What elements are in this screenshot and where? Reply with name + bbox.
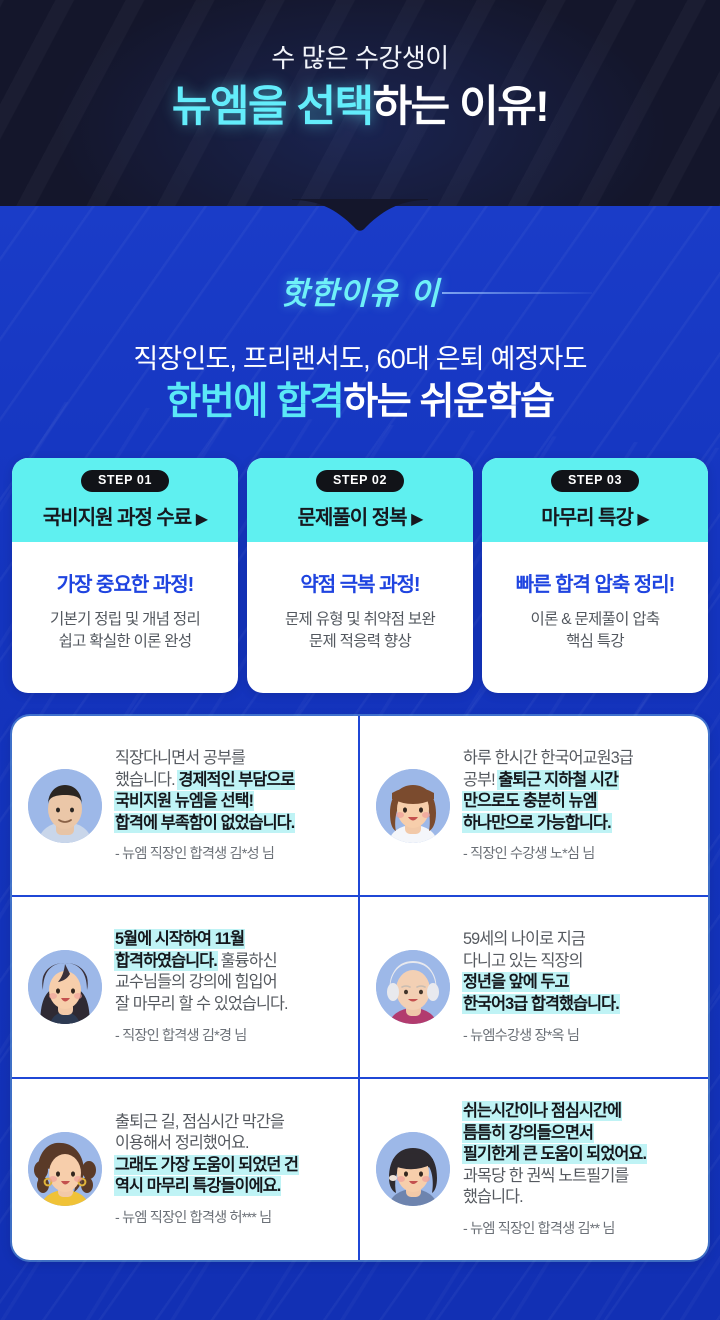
testimonial-text: 쉬는시간이나 점심시간에틈틈히 강의들으면서필기한게 큰 도움이 되었어요.과목… [463, 1101, 694, 1238]
testimonial-author: - 뉴엠 직장인 합격생 허*** 님 [115, 1207, 344, 1227]
script-label: 핫한이유 이 [280, 268, 439, 313]
testimonial-line: 국비지원 뉴엠을 선택! [115, 791, 344, 813]
step-card-list: STEP 01 국비지원 과정 수료 ▶ 가장 중요한 과정! 기본기 정립 및… [12, 458, 708, 693]
step-badge: STEP 01 [81, 470, 169, 492]
testimonial-text: 출퇴근 길, 점심시간 막간을이용해서 정리했어요.그래도 가장 도움이 되었던… [115, 1112, 344, 1227]
headline-subtitle: 직장인도, 프리랜서도, 60대 은퇴 예정자도 [0, 344, 720, 375]
step-badge: STEP 03 [551, 470, 639, 492]
testimonial-card: 쉬는시간이나 점심시간에틈틈히 강의들으면서필기한게 큰 도움이 되었어요.과목… [360, 1079, 708, 1260]
step-card-1-header: STEP 01 국비지원 과정 수료 ▶ [12, 458, 238, 542]
testimonial-line: 잘 마무리 할 수 있었습니다. [115, 994, 344, 1016]
play-arrow-icon: ▶ [637, 511, 648, 528]
hero-title: 뉴엠을 선택하는 이유! [0, 83, 720, 132]
testimonial-line: 했습니다. 경제적인 부담으로 [115, 770, 344, 792]
testimonial-author: - 뉴엠 직장인 합격생 김** 님 [463, 1218, 694, 1238]
step-card-2[interactable]: STEP 02 문제풀이 정복 ▶ 약점 극복 과정! 문제 유형 및 취약점 … [247, 458, 473, 693]
headline-white: 하는 쉬운학습 [343, 381, 554, 423]
testimonial-line: 하루 한시간 한국어교원3급 [463, 748, 694, 770]
step-card-3[interactable]: STEP 03 마무리 특강 ▶ 빠른 합격 압축 정리! 이론 & 문제풀이 … [482, 458, 708, 693]
step-card-2-body: 약점 극복 과정! 문제 유형 및 취약점 보완 문제 적응력 향상 [247, 542, 473, 694]
testimonial-card: 59세의 나이로 지금다니고 있는 직장의정년을 앞에 두고한국어3급 합격했습… [360, 897, 708, 1078]
testimonial-line: 그래도 가장 도움이 되었던 건 [115, 1155, 344, 1177]
testimonial-author: - 뉴엠 직장인 합격생 김*성 님 [115, 843, 344, 863]
step-card-2-header: STEP 02 문제풀이 정복 ▶ [247, 458, 473, 542]
play-arrow-icon: ▶ [411, 511, 422, 528]
step-title: 문제풀이 정복 ▶ [253, 501, 467, 530]
testimonial-line: 한국어3급 합격했습니다. [463, 994, 694, 1016]
testimonial-line: 직장다니면서 공부를 [115, 748, 344, 770]
headline-block: 직장인도, 프리랜서도, 60대 은퇴 예정자도 한번에 합격하는 쉬운학습 [0, 344, 720, 425]
headline-main: 한번에 합격하는 쉬운학습 [0, 381, 720, 425]
step-desc-line: 이론 & 문제풀이 압축 [490, 609, 700, 631]
testimonial-author: - 직장인 수강생 노*심 님 [463, 843, 694, 863]
step-description: 기본기 정립 및 개념 정리 쉽고 확실한 이론 완성 [20, 609, 230, 654]
step-title-text: 문제풀이 정복 [298, 507, 407, 529]
hero-title-cyan: 뉴엠을 선택 [172, 83, 373, 131]
testimonial-text: 직장다니면서 공부를했습니다. 경제적인 부담으로국비지원 뉴엠을 선택!합격에… [115, 748, 344, 863]
testimonial-line: 이용해서 정리했어요. [115, 1133, 344, 1155]
step-card-1-body: 가장 중요한 과정! 기본기 정립 및 개념 정리 쉽고 확실한 이론 완성 [12, 542, 238, 694]
step-description: 이론 & 문제풀이 압축 핵심 특강 [490, 609, 700, 654]
hero-banner: 수 많은 수강생이 뉴엠을 선택하는 이유! [0, 0, 720, 206]
testimonial-line: 과목당 한 권씩 노트필기를 [463, 1166, 694, 1188]
avatar [376, 950, 450, 1024]
step-title-text: 국비지원 과정 수료 [43, 507, 191, 529]
step-title: 마무리 특강 ▶ [488, 501, 702, 530]
testimonial-line: 필기한게 큰 도움이 되었어요. [463, 1144, 694, 1166]
hero-subtitle: 수 많은 수강생이 [0, 44, 720, 73]
testimonial-line: 다니고 있는 직장의 [463, 951, 694, 973]
testimonial-card: 출퇴근 길, 점심시간 막간을이용해서 정리했어요.그래도 가장 도움이 되었던… [12, 1079, 360, 1260]
testimonial-card: 5월에 시작하여 11월합격하였습니다. 훌륭하신교수님들의 강의에 힘입어잘 … [12, 897, 360, 1078]
testimonial-line: 합격하였습니다. 훌륭하신 [115, 951, 344, 973]
testimonial-text: 하루 한시간 한국어교원3급공부! 출퇴근 지하철 시간만으로도 충분히 뉴엠하… [463, 748, 694, 863]
step-desc-line: 핵심 특강 [490, 631, 700, 653]
hero-title-white: 하는 이유! [373, 83, 549, 131]
testimonial-line: 합격에 부족함이 없었습니다. [115, 813, 344, 835]
headline-cyan: 한번에 합격 [166, 381, 343, 423]
script-label-row: 핫한이유 이 [0, 266, 720, 326]
step-title-text: 마무리 특강 [541, 507, 633, 529]
step-title: 국비지원 과정 수료 ▶ [18, 501, 232, 530]
step-card-3-header: STEP 03 마무리 특강 ▶ [482, 458, 708, 542]
step-desc-line: 문제 적응력 향상 [255, 631, 465, 653]
step-card-1[interactable]: STEP 01 국비지원 과정 수료 ▶ 가장 중요한 과정! 기본기 정립 및… [12, 458, 238, 693]
testimonial-author: - 뉴엠수강생 장*옥 님 [463, 1025, 694, 1045]
testimonial-card: 하루 한시간 한국어교원3급공부! 출퇴근 지하철 시간만으로도 충분히 뉴엠하… [360, 716, 708, 897]
step-badge: STEP 02 [316, 470, 404, 492]
step-desc-line: 쉽고 확실한 이론 완성 [20, 631, 230, 653]
testimonial-line: 출퇴근 길, 점심시간 막간을 [115, 1112, 344, 1134]
step-desc-line: 기본기 정립 및 개념 정리 [20, 609, 230, 631]
testimonial-line: 교수님들의 강의에 힘입어 [115, 972, 344, 994]
avatar [376, 1132, 450, 1206]
step-lead: 약점 극복 과정! [255, 568, 465, 597]
landing-page: 수 많은 수강생이 뉴엠을 선택하는 이유! 핫한이유 이 직장인도, 프리랜서… [0, 0, 720, 1320]
step-description: 문제 유형 및 취약점 보완 문제 적응력 향상 [255, 609, 465, 654]
testimonial-line: 했습니다. [463, 1187, 694, 1209]
testimonial-card: 직장다니면서 공부를했습니다. 경제적인 부담으로국비지원 뉴엠을 선택!합격에… [12, 716, 360, 897]
hero-notch [292, 199, 428, 233]
testimonial-line: 만으로도 충분히 뉴엠 [463, 791, 694, 813]
avatar [28, 1132, 102, 1206]
testimonial-line: 쉬는시간이나 점심시간에 [463, 1101, 694, 1123]
avatar [28, 950, 102, 1024]
testimonial-line: 역시 마무리 특강들이에요. [115, 1176, 344, 1198]
testimonial-line: 5월에 시작하여 11월 [115, 929, 344, 951]
step-lead: 빠른 합격 압축 정리! [490, 568, 700, 597]
testimonial-text: 5월에 시작하여 11월합격하였습니다. 훌륭하신교수님들의 강의에 힘입어잘 … [115, 929, 344, 1044]
step-desc-line: 문제 유형 및 취약점 보완 [255, 609, 465, 631]
step-card-3-body: 빠른 합격 압축 정리! 이론 & 문제풀이 압축 핵심 특강 [482, 542, 708, 694]
avatar [376, 769, 450, 843]
testimonial-text: 59세의 나이로 지금다니고 있는 직장의정년을 앞에 두고한국어3급 합격했습… [463, 929, 694, 1044]
testimonial-line: 하나만으로 가능합니다. [463, 813, 694, 835]
testimonial-line: 공부! 출퇴근 지하철 시간 [463, 770, 694, 792]
script-rule [442, 292, 592, 294]
testimonial-author: - 직장인 합격생 김*경 님 [115, 1025, 344, 1045]
testimonial-line: 정년을 앞에 두고 [463, 972, 694, 994]
step-lead: 가장 중요한 과정! [20, 568, 230, 597]
play-arrow-icon: ▶ [196, 511, 207, 528]
testimonial-line: 59세의 나이로 지금 [463, 929, 694, 951]
avatar [28, 769, 102, 843]
testimonial-line: 틈틈히 강의들으면서 [463, 1123, 694, 1145]
testimonial-grid: 직장다니면서 공부를했습니다. 경제적인 부담으로국비지원 뉴엠을 선택!합격에… [12, 716, 708, 1260]
